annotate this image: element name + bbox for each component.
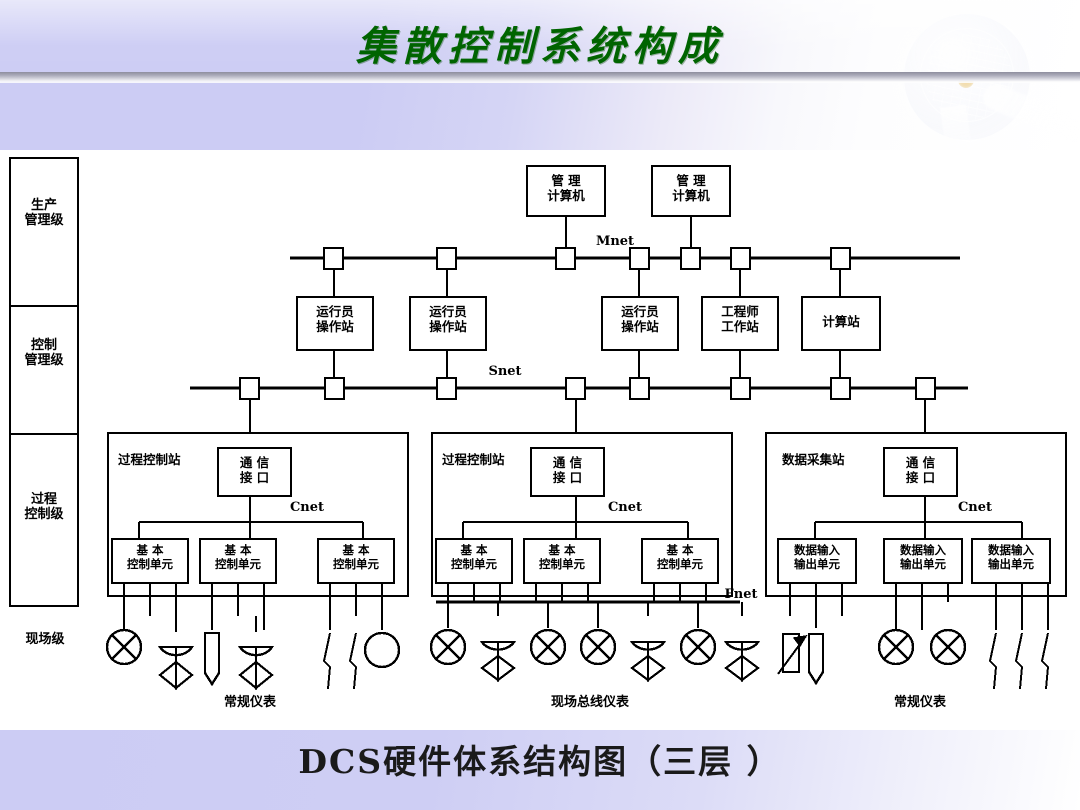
basic-control-unit-2-2[interactable]: 基 本 控制单元 [524,544,600,571]
header-divider-highlight [0,81,1080,83]
header-divider-bar [0,72,1080,81]
station-title-3: 数据采集站 [782,453,882,468]
network-label-cnet-3: Cnet [950,500,1000,515]
level-label-field: 现场级 [6,632,84,647]
network-label-cnet-2: Cnet [600,500,650,515]
network-label-mnet: Mnet [580,234,650,249]
instrument-group-label-2: 现场总线仪表 [520,695,660,710]
level-label-process: 过程 控制级 [10,492,78,523]
communication-interface-1[interactable]: 通 信 接 口 [218,456,291,486]
communication-interface-3[interactable]: 通 信 接 口 [884,456,957,486]
diagram-canvas: 生产 管理级 控制 管理级 过程 控制级 现场级 管 理 计算机 管 理 计算机… [0,150,1080,730]
basic-control-unit-2-3[interactable]: 基 本 控制单元 [642,544,718,571]
level-label-production: 生产 管理级 [10,198,78,229]
basic-control-unit-1-3[interactable]: 基 本 控制单元 [318,544,394,571]
instrument-group-label-1: 常规仪表 [190,695,310,710]
basic-control-unit-1-2[interactable]: 基 本 控制单元 [200,544,276,571]
station-title-2: 过程控制站 [442,453,542,468]
operator-station-3[interactable]: 运行员 操作站 [602,305,678,335]
engineer-workstation[interactable]: 工程师 工作站 [702,305,778,335]
communication-interface-2[interactable]: 通 信 接 口 [531,456,604,486]
instrument-group-label-3: 常规仪表 [860,695,980,710]
page-title: 集散控制系统构成 [0,14,1080,72]
diagram-vector-layer [0,150,1080,730]
network-label-cnet-1: Cnet [282,500,332,515]
data-io-unit-3-1[interactable]: 数据输入 输出单元 [778,544,856,571]
management-computer-2[interactable]: 管 理 计算机 [652,174,730,204]
basic-control-unit-1-1[interactable]: 基 本 控制单元 [112,544,188,571]
sensor-cross-circle [107,630,141,664]
operator-station-1[interactable]: 运行员 操作站 [297,305,373,335]
operator-station-2[interactable]: 运行员 操作站 [410,305,486,335]
station-title-1: 过程控制站 [118,453,218,468]
figure-caption: DCS硬件体系结构图（三层 ） [0,735,1080,783]
level-label-control: 控制 管理级 [10,338,78,369]
slide-root: 集散控制系统构成 DCS硬件体系结构图（三层 ） [0,0,1080,810]
basic-control-unit-2-1[interactable]: 基 本 控制单元 [436,544,512,571]
management-computer-1[interactable]: 管 理 计算机 [527,174,605,204]
data-io-unit-3-3[interactable]: 数据输入 输出单元 [972,544,1050,571]
network-label-fnet: Fnet [716,587,766,602]
network-label-snet: Snet [470,364,540,379]
computing-station[interactable]: 计算站 [802,315,880,330]
data-io-unit-3-2[interactable]: 数据输入 输出单元 [884,544,962,571]
